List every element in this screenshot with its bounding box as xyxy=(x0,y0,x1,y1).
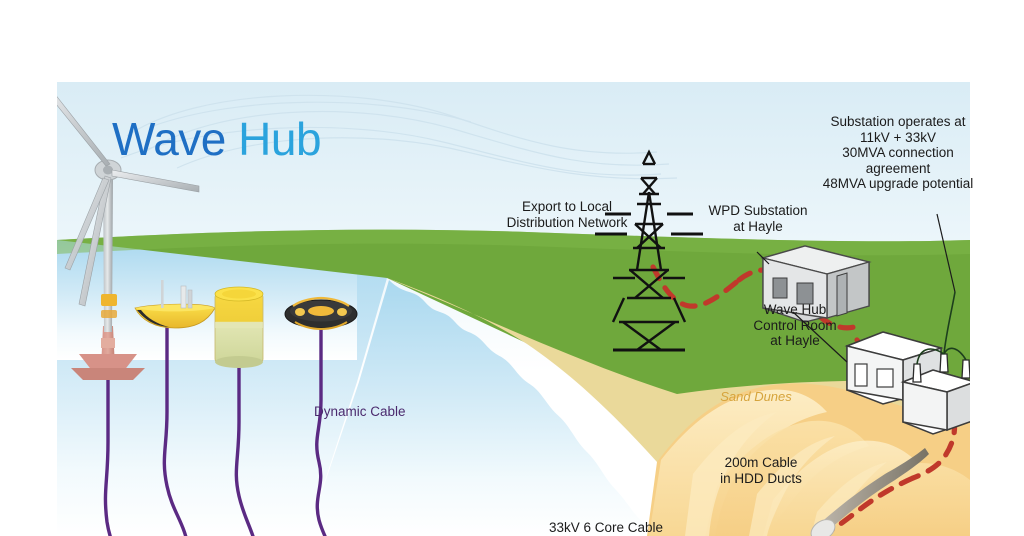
logo-word-hub: Hub xyxy=(238,113,321,165)
wave-device-buoy xyxy=(215,287,263,368)
substation-spec-label: Substation operates at 11kV + 33kV 30MVA… xyxy=(800,114,996,192)
sand-dunes-label: Sand Dunes xyxy=(706,389,806,405)
wpd-substation-label: WPD Substation at Hayle xyxy=(688,203,828,234)
hdd-cable-label: 200m Cable in HDD Ducts xyxy=(706,455,816,486)
logo-word-wave: Wave xyxy=(112,113,226,165)
wave-hub-logo: Wave Hub xyxy=(112,112,321,166)
export-network-label: Export to Local Distribution Network xyxy=(487,199,647,230)
wave-hub-infographic: Wave Hub Substation operates at 11kV + 3… xyxy=(0,0,1024,536)
core-cable-label: 33kV 6 Core Cable xyxy=(549,520,699,536)
control-room-label: Wave Hub Control Room at Hayle xyxy=(735,302,855,349)
dynamic-cable-label: Dynamic Cable xyxy=(314,404,434,420)
